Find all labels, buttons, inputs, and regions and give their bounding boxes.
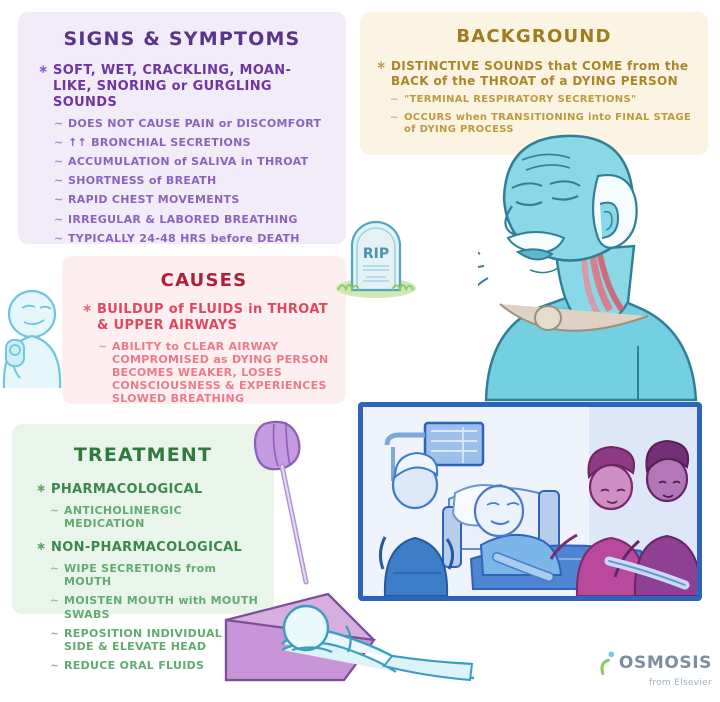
treatment-title: TREATMENT: [12, 444, 274, 466]
signs-bullet-sub: ↑↑ BRONCHIAL SECRETIONS: [52, 136, 330, 149]
background-bullet-primary: DISTINCTIVE SOUNDS that COME from the BA…: [376, 59, 694, 88]
background-bullet-list: DISTINCTIVE SOUNDS that COME from the BA…: [376, 59, 694, 136]
wedge-pillow-icon: [196, 588, 480, 696]
osmosis-logo-row: OSMOSIS: [596, 650, 712, 676]
causes-title: CAUSES: [62, 270, 346, 291]
tombstone-icon: RIP: [330, 212, 422, 300]
osmosis-mark-icon: [596, 650, 619, 676]
osmosis-subtitle: from Elsevier: [596, 678, 712, 688]
signs-bullet-sub: IRREGULAR & LABORED BREATHING: [52, 213, 330, 226]
treatment-bullet-primary: NON-PHARMACOLOGICAL: [36, 540, 264, 556]
tombstone-rip-text: RIP: [363, 246, 389, 262]
treatment-bullet-sub: WIPE SECRETIONS from MOUTH: [48, 562, 264, 588]
wedge-pillow-elevated-head-illustration: [196, 588, 480, 696]
mouth-swab-illustration: [244, 418, 328, 594]
background-bullet-sub: "TERMINAL RESPIRATORY SECRETIONS": [388, 94, 694, 106]
causes-bullet-list: BUILDUP of FLUIDS in THROAT & UPPER AIRW…: [82, 302, 332, 406]
treatment-bullet-sub: ANTICHOLINERGIC MEDICATION: [48, 504, 264, 530]
signs-bullet-sub: TYPICALLY 24-48 HRS before DEATH: [52, 232, 330, 245]
elderly-man-icon: [478, 132, 714, 402]
treatment-bullet-primary: PHARMACOLOGICAL: [36, 482, 264, 498]
causes-body: BUILDUP of FLUIDS in THROAT & UPPER AIRW…: [62, 291, 346, 406]
signs-bullet-sub: RAPID CHEST MOVEMENTS: [52, 193, 330, 206]
signs-bullet-sub: DOES NOT CAUSE PAIN or DISCOMFORT: [52, 117, 330, 130]
background-title: BACKGROUND: [360, 26, 708, 47]
hospital-bedside-scene-illustration: [358, 402, 702, 601]
signs-bullet-list: SOFT, WET, CRACKLING, MOAN-LIKE, SNORING…: [38, 63, 330, 245]
signs-and-symptoms-title: SIGNS & SYMPTOMS: [18, 28, 346, 50]
causes-bullet-primary: BUILDUP of FLUIDS in THROAT & UPPER AIRW…: [82, 302, 332, 334]
signs-bullet-sub: SHORTNESS of BREATH: [52, 174, 330, 187]
elderly-man-throat-illustration: [478, 132, 714, 402]
thinking-person-illustration: [0, 288, 62, 388]
signs-and-symptoms-body: SOFT, WET, CRACKLING, MOAN-LIKE, SNORING…: [18, 50, 346, 245]
tombstone-illustration: RIP: [330, 212, 422, 300]
signs-bullet-sub: ACCUMULATION of SALIVA in THROAT: [52, 155, 330, 168]
signs-bullet-primary: SOFT, WET, CRACKLING, MOAN-LIKE, SNORING…: [38, 63, 330, 111]
signs-and-symptoms-card: SIGNS & SYMPTOMS SOFT, WET, CRACKLING, M…: [18, 12, 346, 244]
mouth-swab-icon: [244, 418, 328, 594]
hospital-scene-icon: [363, 407, 697, 596]
infographic-canvas: SIGNS & SYMPTOMS SOFT, WET, CRACKLING, M…: [0, 0, 720, 702]
thinking-person-icon: [0, 288, 62, 388]
osmosis-wordmark: OSMOSIS: [619, 655, 712, 672]
treatment-card: TREATMENT PHARMACOLOGICAL ANTICHOLINERGI…: [12, 424, 274, 614]
background-body: DISTINCTIVE SOUNDS that COME from the BA…: [360, 47, 708, 136]
osmosis-logo[interactable]: OSMOSIS from Elsevier: [596, 650, 712, 694]
causes-bullet-sub: ABILITY to CLEAR AIRWAY COMPROMISED as D…: [96, 340, 332, 406]
causes-card: CAUSES BUILDUP of FLUIDS in THROAT & UPP…: [62, 256, 346, 404]
